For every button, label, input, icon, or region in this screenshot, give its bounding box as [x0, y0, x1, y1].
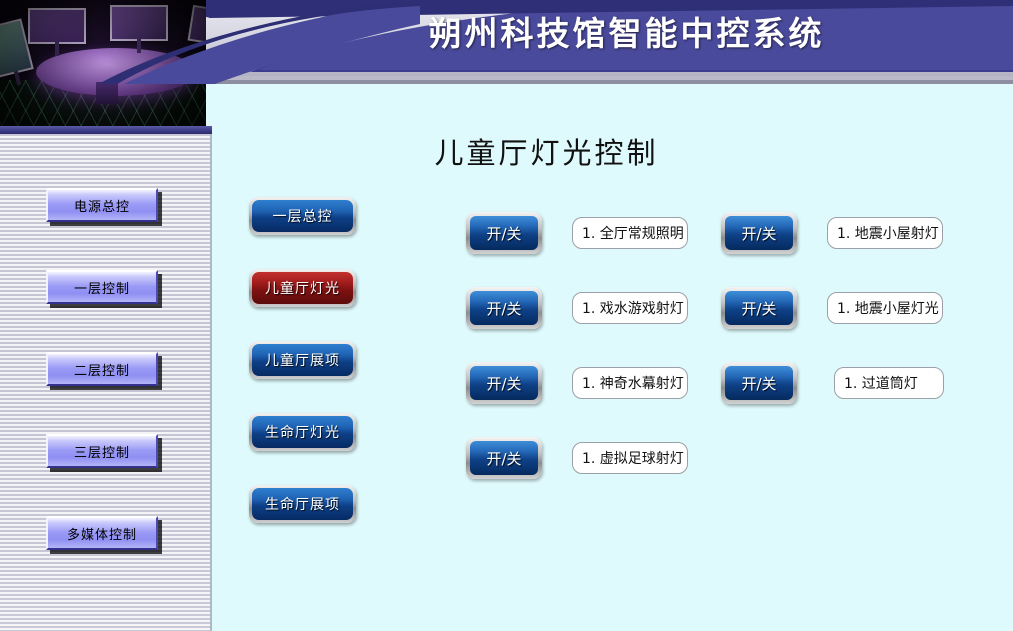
nav-button-label: 一层总控	[252, 200, 353, 232]
left-sidebar: 电源总控 一层控制 二层控制 三层控制 多媒体控制	[0, 132, 212, 631]
sidebar-item-label: 三层控制	[74, 442, 130, 461]
nav-button-children-hall-exhibits[interactable]: 儿童厅展项	[249, 341, 356, 379]
toggle-button-label: 开/关	[470, 216, 538, 250]
toggle-button-label: 开/关	[725, 366, 793, 400]
toggle-button-label: 开/关	[470, 366, 538, 400]
toggle-button-地震小屋灯光[interactable]: 开/关	[721, 287, 797, 329]
sidebar-item-label: 二层控制	[74, 360, 130, 379]
control-label: 1. 地震小屋射灯	[827, 217, 943, 249]
app-header: 朔州科技馆智能中控系统	[0, 0, 1013, 84]
nav-button-label: 生命厅灯光	[252, 416, 353, 448]
control-row: 开/关 1. 过道筒灯	[721, 362, 944, 404]
nav-button-label: 儿童厅展项	[252, 344, 353, 376]
page-header-title: 朔州科技馆智能中控系统	[0, 7, 1013, 55]
sidebar-item-floor-3[interactable]: 三层控制	[46, 434, 158, 468]
toggle-button-虚拟足球射灯[interactable]: 开/关	[466, 437, 542, 479]
sidebar-item-floor-2[interactable]: 二层控制	[46, 352, 158, 386]
toggle-button-地震小屋射灯[interactable]: 开/关	[721, 212, 797, 254]
control-row: 开/关 1. 神奇水幕射灯	[466, 362, 688, 404]
control-row: 开/关 1. 地震小屋灯光	[721, 287, 943, 329]
sidebar-item-power-master[interactable]: 电源总控	[46, 188, 158, 222]
control-label: 1. 虚拟足球射灯	[572, 442, 688, 474]
main-content-panel: 儿童厅灯光控制 一层总控 儿童厅灯光 儿童厅展项 生命厅灯光 生命厅展项 开/关…	[214, 84, 1013, 631]
toggle-button-label: 开/关	[470, 441, 538, 475]
nav-button-label: 生命厅展项	[252, 488, 353, 520]
control-row: 开/关 1. 全厅常规照明	[466, 212, 688, 254]
control-label: 1. 地震小屋灯光	[827, 292, 943, 324]
toggle-button-过道筒灯[interactable]: 开/关	[721, 362, 797, 404]
sidebar-item-label: 一层控制	[74, 278, 130, 297]
nav-button-life-hall-lighting[interactable]: 生命厅灯光	[249, 413, 356, 451]
nav-button-floor1-master[interactable]: 一层总控	[249, 197, 356, 235]
toggle-button-label: 开/关	[470, 291, 538, 325]
sidebar-item-multimedia[interactable]: 多媒体控制	[46, 516, 158, 550]
photo-bottom-edge	[0, 126, 212, 134]
toggle-button-神奇水幕射灯[interactable]: 开/关	[466, 362, 542, 404]
sidebar-item-label: 电源总控	[74, 196, 130, 215]
toggle-button-戏水游戏射灯[interactable]: 开/关	[466, 287, 542, 329]
control-row: 开/关 1. 戏水游戏射灯	[466, 287, 688, 329]
toggle-button-label: 开/关	[725, 291, 793, 325]
control-label: 1. 过道筒灯	[834, 367, 944, 399]
control-label: 1. 全厅常规照明	[572, 217, 688, 249]
sidebar-item-floor-1[interactable]: 一层控制	[46, 270, 158, 304]
page-title: 儿童厅灯光控制	[214, 130, 879, 172]
toggle-button-label: 开/关	[725, 216, 793, 250]
sidebar-item-label: 多媒体控制	[67, 524, 137, 543]
control-row: 开/关 1. 地震小屋射灯	[721, 212, 943, 254]
control-row: 开/关 1. 虚拟足球射灯	[466, 437, 688, 479]
control-label: 1. 戏水游戏射灯	[572, 292, 688, 324]
toggle-button-全厅常规照明[interactable]: 开/关	[466, 212, 542, 254]
nav-button-label: 儿童厅灯光	[252, 272, 353, 304]
nav-button-children-hall-lighting[interactable]: 儿童厅灯光	[249, 269, 356, 307]
nav-button-life-hall-exhibits[interactable]: 生命厅展项	[249, 485, 356, 523]
control-label: 1. 神奇水幕射灯	[572, 367, 688, 399]
